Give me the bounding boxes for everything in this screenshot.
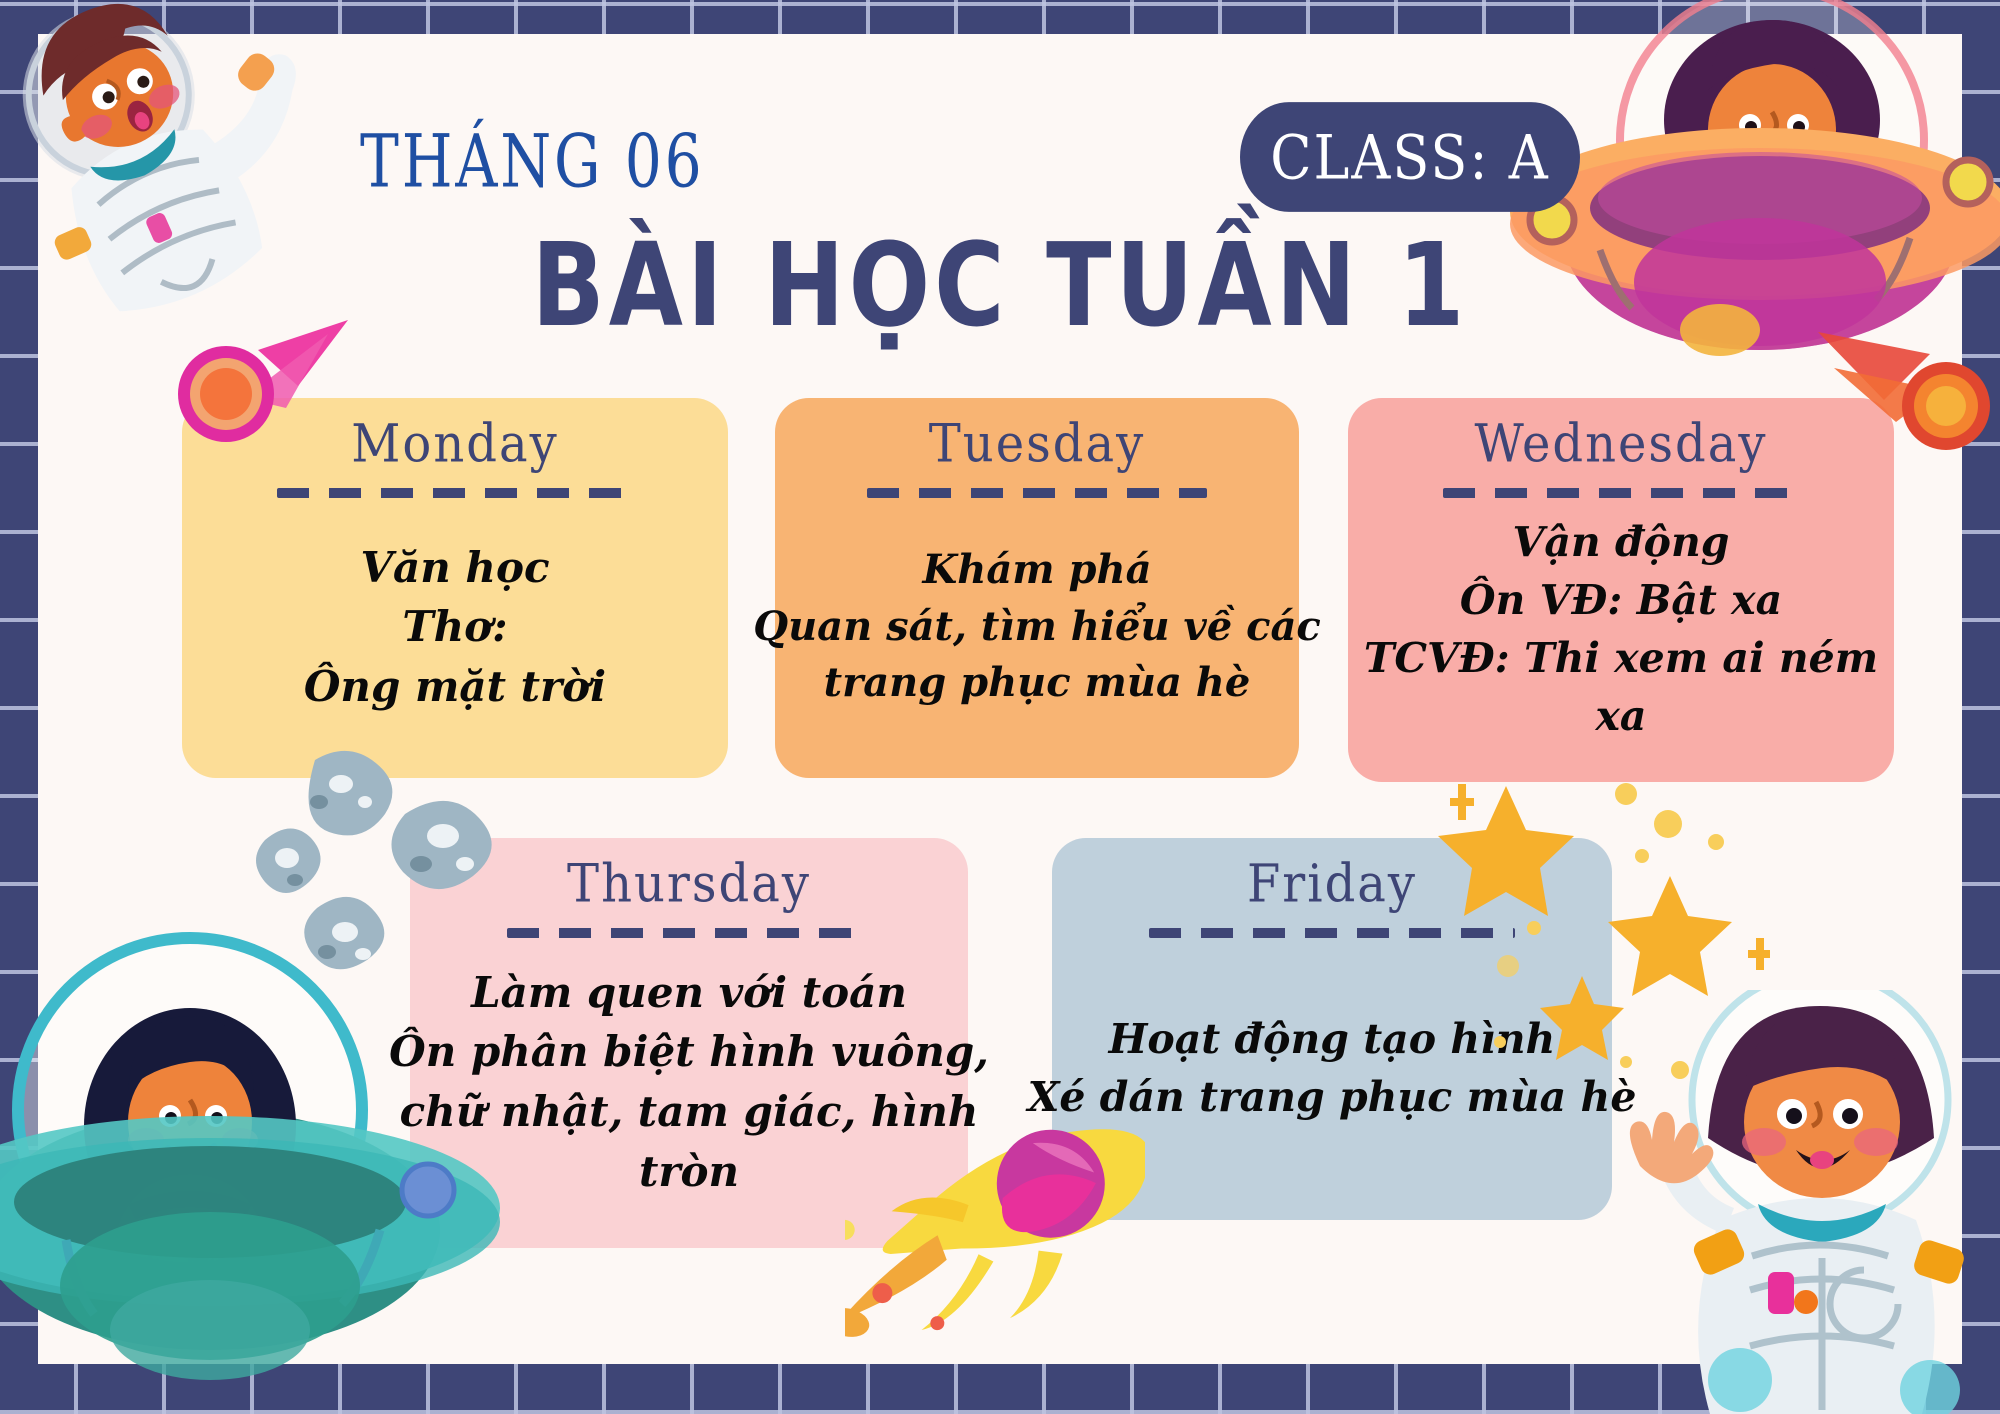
day-name-monday: Monday (351, 413, 558, 475)
subject-line: Quan sát, tìm hiểu về các (753, 599, 1321, 656)
day-card-thursday[interactable]: Thursday Làm quen với toán Ôn phân biệt … (410, 838, 968, 1248)
page-title: BÀI HỌC TUẦN 1 (0, 220, 2000, 353)
day-name-tuesday: Tuesday (929, 413, 1145, 475)
day-name-wednesday: Wednesday (1475, 413, 1768, 475)
subject-line: Hoạt động tạo hình (1109, 1010, 1556, 1068)
dashed-divider (867, 488, 1207, 498)
day-name-friday: Friday (1247, 853, 1417, 915)
subject-line: Khám phá (923, 542, 1152, 599)
subject-line: TCVĐ: Thi xem ai ném (1364, 629, 1878, 687)
subject-text-monday: Văn học Thơ: Ông mặt trời (208, 502, 702, 752)
poster-canvas: THÁNG 06 CLASS: A BÀI HỌC TUẦN 1 Monday … (0, 0, 2000, 1414)
subject-line: Văn học (360, 538, 549, 598)
subject-line: trang phục mùa hè (824, 655, 1251, 712)
subject-text-friday: Hoạt động tạo hình Xé dán trang phục mùa… (1078, 942, 1586, 1194)
day-card-monday[interactable]: Monday Văn học Thơ: Ông mặt trời (182, 398, 728, 778)
dashed-divider (1149, 928, 1515, 938)
dashed-divider (1443, 488, 1799, 498)
subject-line: chữ nhật, tam giác, hình (400, 1082, 979, 1142)
day-card-wednesday[interactable]: Wednesday Vận động Ôn VĐ: Bật xa TCVĐ: T… (1348, 398, 1894, 782)
day-name-thursday: Thursday (567, 853, 811, 915)
subject-line: Vận động (1513, 513, 1730, 571)
subject-line: Thơ: (402, 597, 507, 657)
subject-line: xa (1595, 687, 1646, 745)
dashed-divider (277, 488, 633, 498)
subject-line: Làm quen với toán (471, 963, 907, 1023)
class-badge: CLASS: A (1240, 102, 1580, 212)
subject-line: Ông mặt trời (304, 657, 606, 717)
month-label: THÁNG 06 (360, 118, 705, 204)
day-card-friday[interactable]: Friday Hoạt động tạo hình Xé dán trang p… (1052, 838, 1612, 1220)
subject-text-thursday: Làm quen với toán Ôn phân biệt hình vuôn… (436, 942, 942, 1222)
dashed-divider (507, 928, 871, 938)
class-badge-label: CLASS: A (1270, 122, 1550, 193)
subject-line: Ôn phân biệt hình vuông, (389, 1022, 989, 1082)
subject-line: tròn (639, 1142, 739, 1202)
subject-line: Ôn VĐ: Bật xa (1460, 571, 1782, 629)
subject-text-tuesday: Khám phá Quan sát, tìm hiểu về các trang… (801, 502, 1273, 752)
subject-line: Xé dán trang phục mùa hè (1028, 1068, 1637, 1126)
day-card-tuesday[interactable]: Tuesday Khám phá Quan sát, tìm hiểu về c… (775, 398, 1299, 778)
subject-text-wednesday: Vận động Ôn VĐ: Bật xa TCVĐ: Thi xem ai … (1374, 502, 1868, 756)
